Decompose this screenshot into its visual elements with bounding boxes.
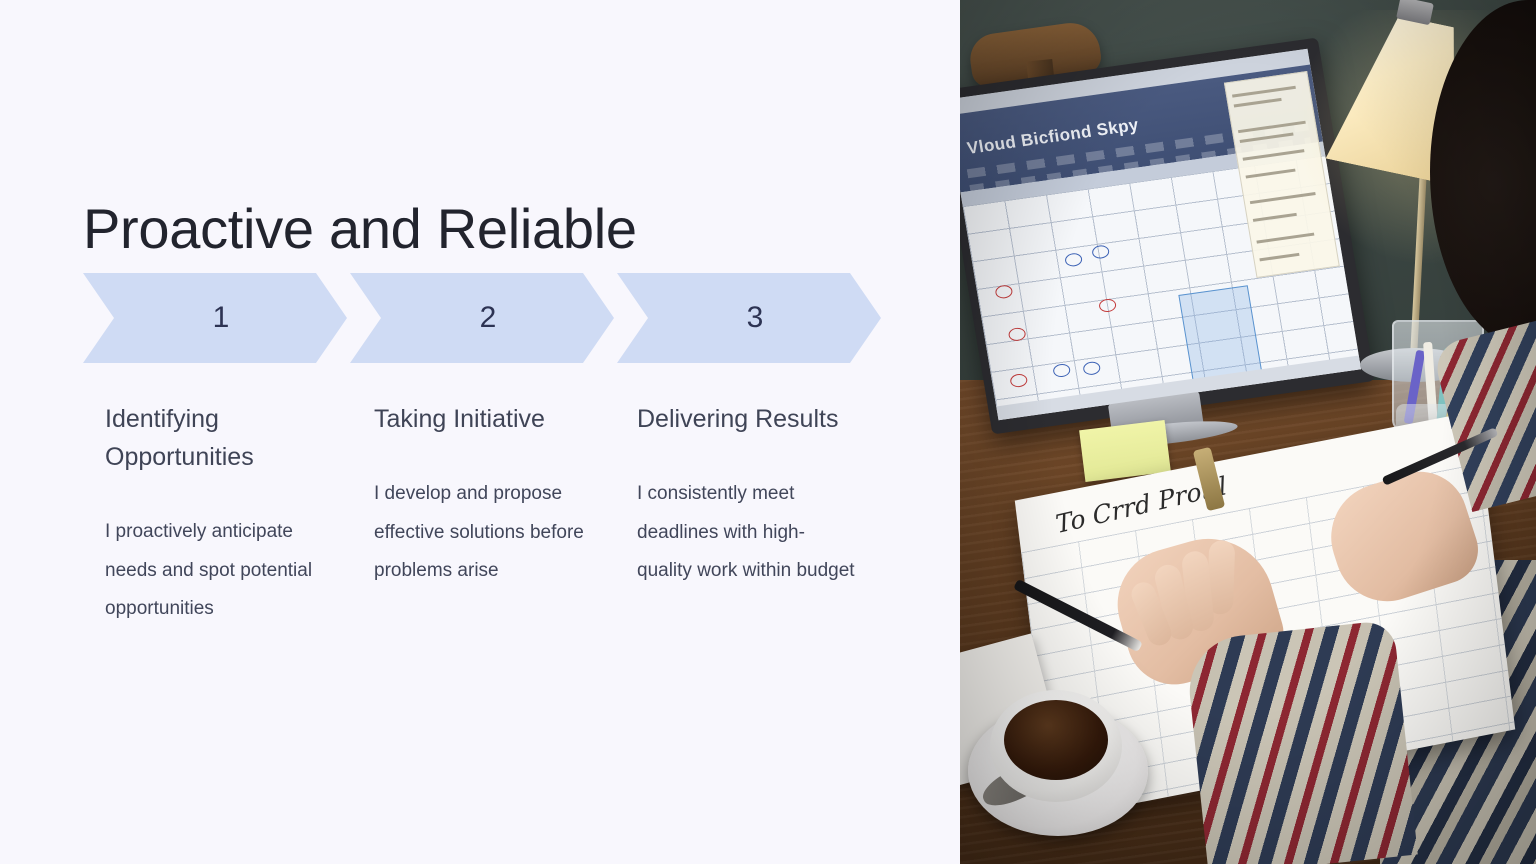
- chevron-step-2-number: 2: [480, 301, 497, 335]
- process-chevron-band: 1 2 3: [83, 273, 878, 363]
- panel-text-line: [1234, 98, 1282, 108]
- step-2-body: I develop and propose effective solution…: [374, 475, 596, 591]
- blue-annotation-circle: [1091, 244, 1110, 259]
- step-column-3: Delivering Results I consistently meet d…: [637, 400, 859, 591]
- red-annotation-circle: [1009, 373, 1028, 388]
- chevron-step-2[interactable]: 2: [350, 273, 614, 363]
- step-3-body: I consistently meet deadlines with high-…: [637, 475, 859, 591]
- panel-text-line: [1240, 133, 1294, 143]
- desk-workspace-photo: Vloud Bicfiond Skpy: [960, 0, 1536, 864]
- left-sleeve: [1184, 620, 1418, 864]
- content-panel: Proactive and Reliable 1 2 3 Identifying…: [0, 0, 960, 864]
- red-annotation-circle: [1008, 327, 1027, 342]
- red-annotation-circle: [994, 284, 1013, 299]
- step-1-body: I proactively anticipate needs and spot …: [105, 513, 327, 629]
- chevron-step-3-number: 3: [747, 301, 764, 335]
- step-column-2: Taking Initiative I develop and propose …: [374, 400, 596, 591]
- slide: Proactive and Reliable 1 2 3 Identifying…: [0, 0, 1536, 864]
- chevron-step-1[interactable]: 1: [83, 273, 347, 363]
- blue-annotation-circle: [1052, 363, 1071, 378]
- panel-text-line: [1232, 86, 1296, 98]
- chevron-step-3[interactable]: 3: [617, 273, 881, 363]
- step-1-heading: Identifying Opportunities: [105, 400, 327, 476]
- blue-annotation-circle: [1064, 252, 1083, 267]
- panel-text-line: [1246, 169, 1296, 179]
- step-3-heading: Delivering Results: [637, 400, 859, 438]
- blue-annotation-circle: [1082, 361, 1101, 376]
- red-annotation-circle: [1098, 298, 1117, 313]
- step-2-heading: Taking Initiative: [374, 400, 596, 438]
- step-column-1: Identifying Opportunities I proactively …: [105, 400, 327, 629]
- page-title: Proactive and Reliable: [83, 198, 637, 260]
- chevron-step-1-number: 1: [213, 301, 230, 335]
- coffee-liquid: [1004, 700, 1108, 780]
